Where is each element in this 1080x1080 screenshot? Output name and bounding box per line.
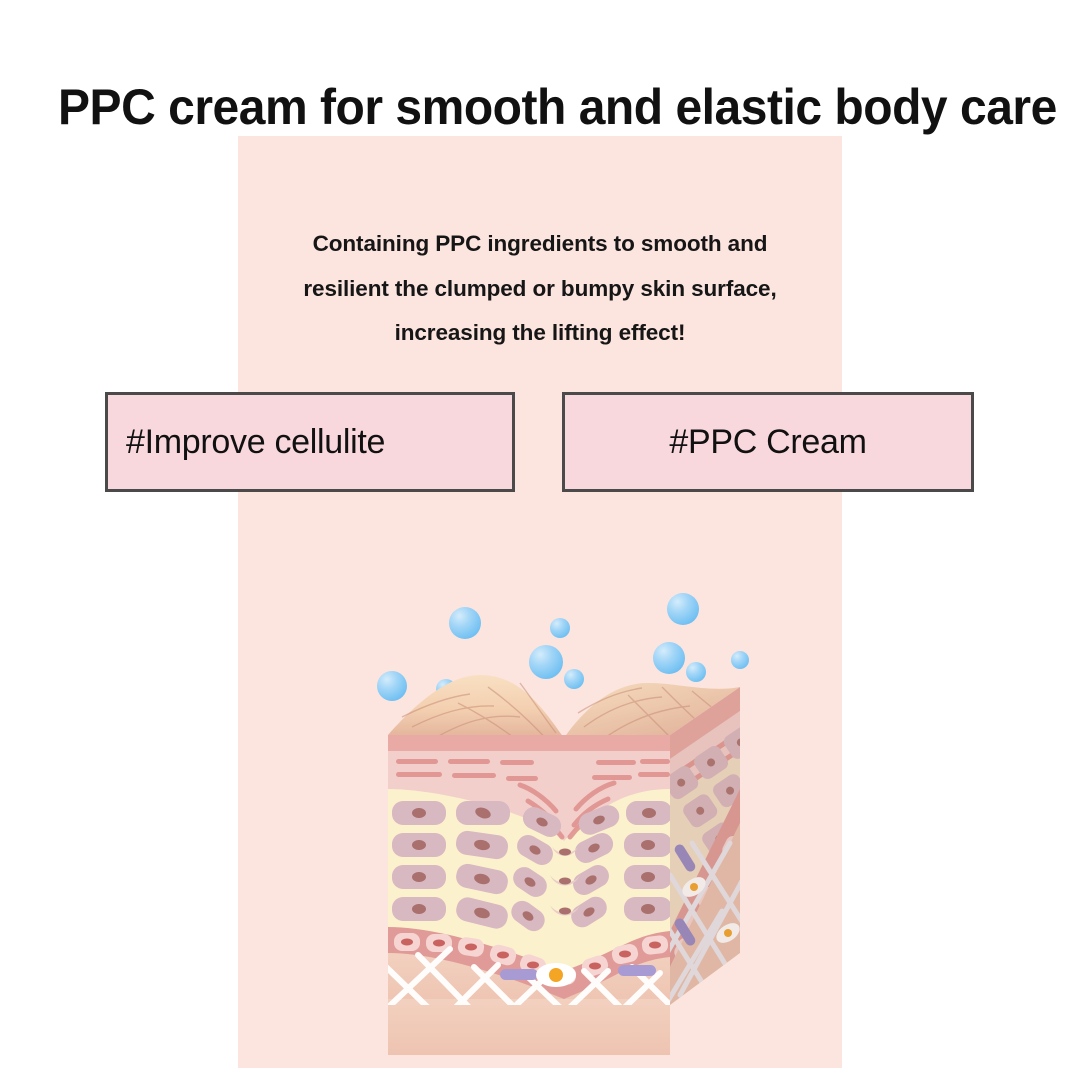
tag-improve-cellulite[interactable]: #Improve cellulite bbox=[105, 392, 515, 492]
poster-canvas: PPC cream for smooth and elastic body ca… bbox=[0, 0, 1080, 1080]
tag-improve-cellulite-label: #Improve cellulite bbox=[126, 423, 385, 462]
bubble-icon bbox=[653, 642, 685, 674]
bubble-icon bbox=[529, 645, 563, 679]
bubble-icon bbox=[449, 607, 481, 639]
bubble-icon bbox=[550, 618, 570, 638]
dermis-body bbox=[388, 999, 670, 1055]
skin-cross-section-illustration bbox=[370, 575, 770, 1055]
skin-block bbox=[380, 675, 770, 1055]
description-paragraph: Containing PPC ingredients to smooth and… bbox=[238, 222, 842, 356]
description-line-3: increasing the lifting effect! bbox=[238, 311, 842, 356]
tag-ppc-cream-label: #PPC Cream bbox=[669, 423, 866, 462]
bubble-icon bbox=[686, 662, 706, 682]
description-line-2: resilient the clumped or bumpy skin surf… bbox=[238, 267, 842, 312]
side-shade bbox=[670, 687, 740, 1005]
bubble-icon bbox=[731, 651, 749, 669]
bubble-icon bbox=[667, 593, 699, 625]
tag-ppc-cream[interactable]: #PPC Cream bbox=[562, 392, 974, 492]
bubble-icon bbox=[377, 671, 407, 701]
description-line-1: Containing PPC ingredients to smooth and bbox=[238, 222, 842, 267]
page-title: PPC cream for smooth and elastic body ca… bbox=[58, 80, 999, 135]
bubble-icon bbox=[564, 669, 584, 689]
